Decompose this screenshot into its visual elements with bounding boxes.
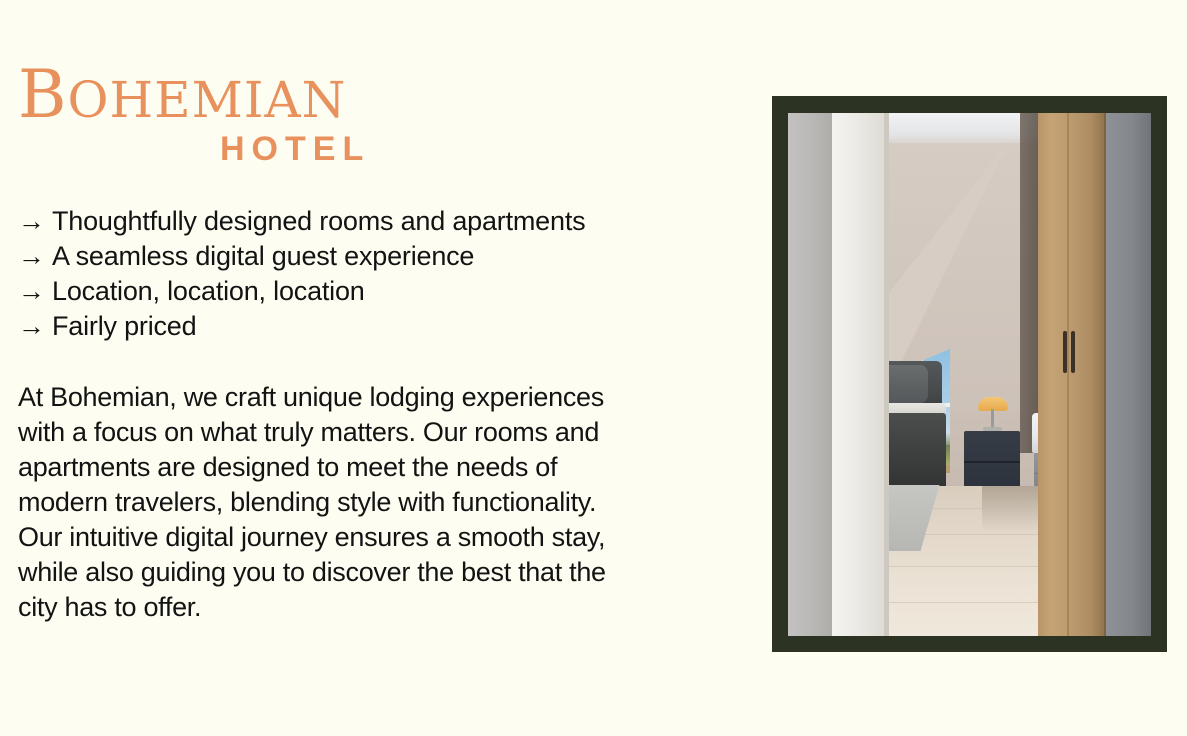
body-line: Our intuitive digital journey ensures a … bbox=[18, 520, 678, 555]
list-item-label: Fairly priced bbox=[52, 311, 196, 341]
door-jamb bbox=[832, 113, 888, 636]
arrow-right-icon: → bbox=[18, 239, 52, 274]
floor-shadow bbox=[982, 486, 1046, 532]
body-line: modern travelers, blending style with fu… bbox=[18, 485, 678, 520]
slide-canvas: BOHEMIAN HOTEL →Thoughtfully designed ro… bbox=[0, 0, 1187, 736]
body-paragraph: At Bohemian, we craft unique lodging exp… bbox=[18, 380, 678, 625]
arrow-right-icon: → bbox=[18, 309, 52, 344]
list-item-label: A seamless digital guest experience bbox=[52, 241, 474, 271]
body-line: city has to offer. bbox=[18, 590, 678, 625]
list-item: →A seamless digital guest experience bbox=[18, 239, 718, 274]
body-line: At Bohemian, we craft unique lodging exp… bbox=[18, 380, 678, 415]
room-scene bbox=[788, 113, 1151, 636]
body-line: while also guiding you to discover the b… bbox=[18, 555, 678, 590]
value-proposition-list: →Thoughtfully designed rooms and apartme… bbox=[18, 204, 718, 344]
brand-lockup: BOHEMIAN HOTEL bbox=[18, 52, 718, 174]
list-item-label: Location, location, location bbox=[52, 276, 365, 306]
wardrobe-handle-icon bbox=[1063, 331, 1067, 373]
list-item: →Fairly priced bbox=[18, 309, 718, 344]
list-item: →Thoughtfully designed rooms and apartme… bbox=[18, 204, 718, 239]
right-grey-wall bbox=[1106, 113, 1151, 636]
ceiling-band bbox=[888, 113, 1041, 143]
brand-wordmark-rest: OHEMIAN bbox=[68, 71, 347, 129]
wardrobe-door-split bbox=[1067, 113, 1069, 636]
foreground-left-wall bbox=[788, 113, 832, 636]
wardrobe-handle-icon bbox=[1071, 331, 1075, 373]
door-jamb-edge bbox=[884, 113, 889, 636]
table-lamp-stem bbox=[991, 409, 994, 429]
arrow-right-icon: → bbox=[18, 274, 52, 309]
list-item: →Location, location, location bbox=[18, 274, 718, 309]
list-item-label: Thoughtfully designed rooms and apartmen… bbox=[52, 206, 585, 236]
arrow-right-icon: → bbox=[18, 204, 52, 239]
photo-frame bbox=[772, 96, 1167, 652]
wooden-wardrobe bbox=[1038, 113, 1106, 636]
wardrobe-wall-gap bbox=[1020, 113, 1038, 453]
brand-subtitle: HOTEL bbox=[220, 132, 370, 166]
body-line: with a focus on what truly matters. Our … bbox=[18, 415, 678, 450]
brand-wordmark: BOHEMIAN bbox=[18, 62, 346, 128]
nightstand-drawer-line bbox=[964, 461, 1020, 463]
hotel-room-photo bbox=[788, 113, 1151, 636]
brand-initial: B bbox=[18, 56, 68, 133]
left-content-column: BOHEMIAN HOTEL →Thoughtfully designed ro… bbox=[18, 52, 718, 174]
body-line: apartments are designed to meet the need… bbox=[18, 450, 678, 485]
